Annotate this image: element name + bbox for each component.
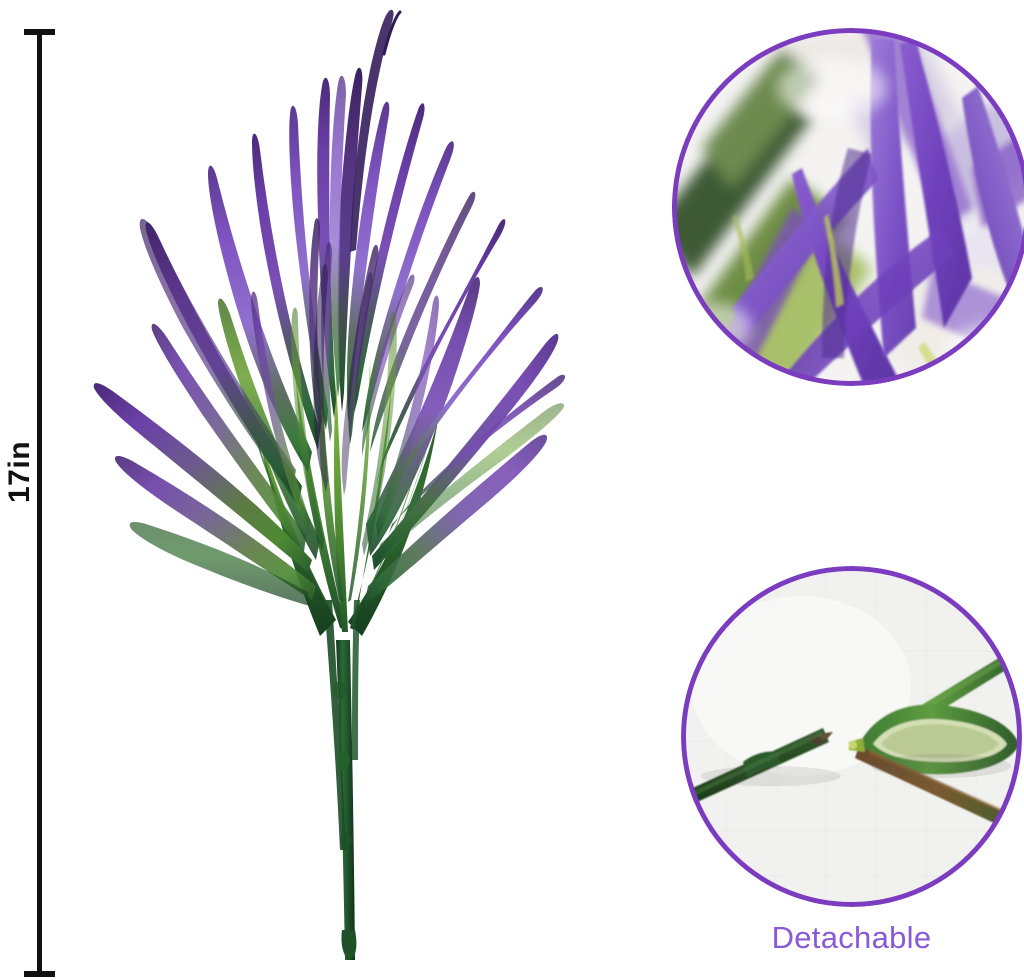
- product-image-plant: [40, 0, 640, 980]
- infographic-canvas: 17in: [0, 0, 1024, 980]
- detachable-illustration: [681, 566, 1022, 907]
- callout-detachable-caption: Detachable: [681, 920, 1022, 956]
- callout-detachable-closeup: [681, 566, 1022, 907]
- closeup-illustration: [672, 28, 1024, 386]
- plant-stem: [324, 600, 360, 960]
- plant-illustration: [40, 0, 640, 980]
- measurement-label: 17in: [3, 426, 37, 518]
- callout-closeup-photo: [672, 28, 1024, 386]
- callout-leaf-texture-closeup: [672, 28, 1024, 386]
- callout-detachable-photo: [681, 566, 1022, 907]
